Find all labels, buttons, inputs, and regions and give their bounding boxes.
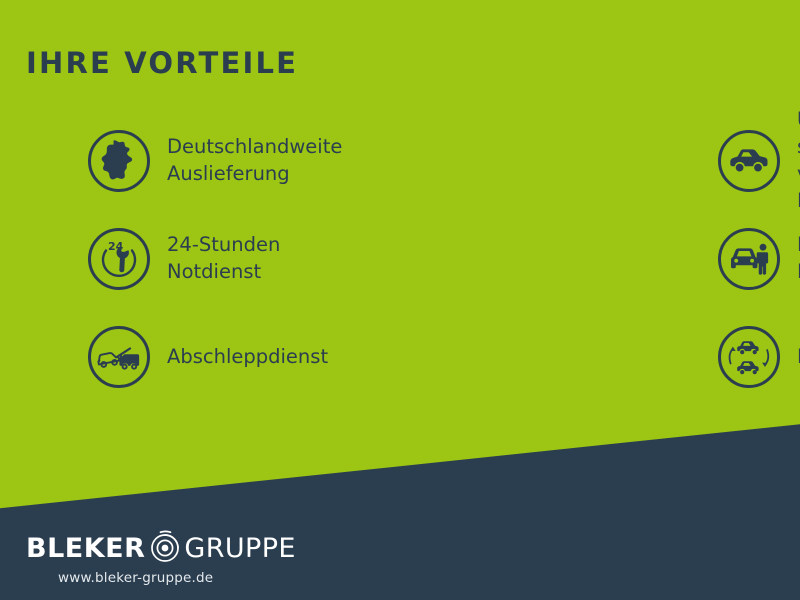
germany-map-icon bbox=[88, 130, 150, 192]
car-side-icon bbox=[718, 130, 780, 192]
benefit-item-ersatzwagen: Ersatzwagen bbox=[315, 308, 800, 406]
footer-logo[interactable]: BLEKER GRUPPE www.bleker-gruppe.de bbox=[26, 531, 366, 586]
slide-canvas: IHRE VORTEILE Deutschlandweite Ausliefer… bbox=[0, 0, 800, 600]
benefits-grid: Deutschlandweite Auslieferung Über 2.000… bbox=[0, 112, 800, 406]
clock-wrench-24-icon: 24 bbox=[88, 228, 150, 290]
logo-primary-text: BLEKER bbox=[26, 535, 145, 562]
two-cars-exchange-icon bbox=[718, 326, 780, 388]
page-title: IHRE VORTEILE bbox=[26, 48, 298, 80]
benefit-item-verfuegbare-fahrzeuge: Über 2.000 sofort verfügbare Fahrzeuge bbox=[315, 112, 800, 210]
benefit-item-abschleppdienst: Abschleppdienst bbox=[0, 308, 315, 406]
benefit-item-24-stunden-notdienst: 24 24-Stunden Notdienst bbox=[0, 210, 315, 308]
benefit-label: Abschleppdienst bbox=[167, 344, 328, 371]
website-url[interactable]: www.bleker-gruppe.de bbox=[58, 570, 366, 586]
logo-row: BLEKER GRUPPE bbox=[26, 531, 366, 565]
benefit-item-deutschlandweite-auslieferung: Deutschlandweite Auslieferung bbox=[0, 112, 315, 210]
spiral-circle-logo-icon bbox=[147, 529, 183, 567]
car-person-icon bbox=[718, 228, 780, 290]
tow-truck-icon bbox=[88, 326, 150, 388]
benefit-item-hol-und-bringservice: Hol- und Bringservice bbox=[315, 210, 800, 308]
logo-secondary-text: GRUPPE bbox=[184, 535, 295, 562]
benefit-label: 24-Stunden Notdienst bbox=[167, 232, 280, 286]
